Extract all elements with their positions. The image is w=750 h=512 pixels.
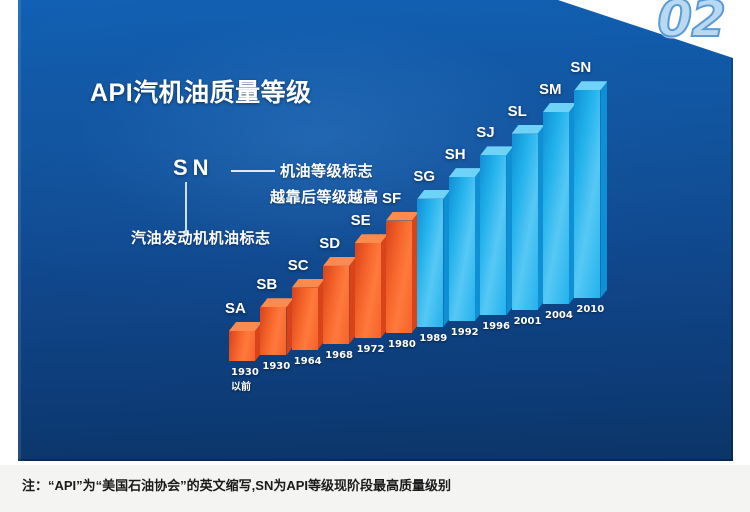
slide-panel: 02 API汽机油质量等级 SN 机油等级标志 越靠后等级越高 汽油发动机机油标…: [18, 0, 733, 461]
callout-note-line2: 越靠后等级越高: [270, 186, 379, 207]
callout-leader-vertical: [185, 182, 187, 232]
callout-note-bottom: 汽油发动机机油标志: [131, 227, 271, 248]
callout-leader-horizontal: [231, 170, 275, 172]
slide-stage: 02 API汽机油质量等级 SN 机油等级标志 越靠后等级越高 汽油发动机机油标…: [0, 0, 750, 512]
callout-note-line1: 机油等级标志: [280, 160, 373, 181]
callout-symbol: SN: [173, 155, 214, 181]
section-number-badge: 02: [657, 0, 725, 44]
footer-note: 注：“API”为“美国石油协会”的英文缩写,SN为API等级现阶段最高质量级别: [22, 475, 451, 494]
sn-callout: SN 机油等级标志 越靠后等级越高 汽油发动机机油标志: [18, 0, 733, 461]
footer-bar: 注：“API”为“美国石油协会”的英文缩写,SN为API等级现阶段最高质量级别: [0, 465, 750, 512]
